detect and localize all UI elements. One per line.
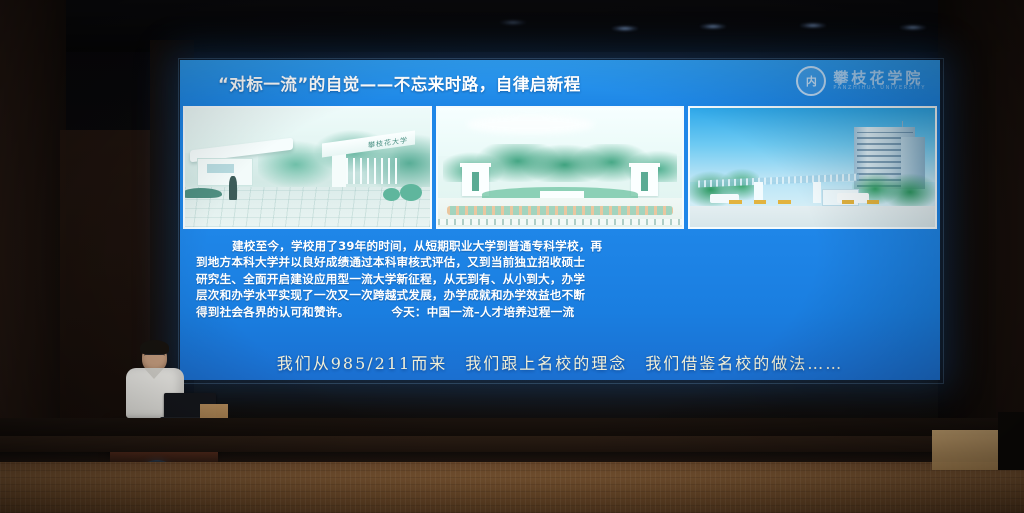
auditorium-scene: “对标一流”的自觉——不忘来时路，自律启新程 内 攀枝花学院 PANZHIHUA… [0,0,1024,513]
stage-step-upper [0,436,1024,452]
stage-speaker-cabinet [998,412,1024,470]
university-seal-icon: 内 [796,66,826,96]
stage-curtain-right [938,40,996,440]
slide-photo-strip: 攀枝花大学 [180,106,940,229]
slide-body: 建校至今，学校用了39年的时间，从短期职业大学到普通专科学校，再 到地方本科大学… [180,229,940,380]
slide-tagline: 我们从985/211而来 我们跟上名校的理念 我们借鉴名校的做法…… [180,350,940,374]
slide-today-text: 今天：中国一流–人才培养过程一流 [349,304,574,320]
brand-name-cn: 攀枝花学院 [833,71,926,87]
ceiling-spotlight [900,25,926,30]
speaker-glasses-icon [144,354,165,360]
slide-body-text: 建校至今，学校用了39年的时间，从短期职业大学到普通专科学校，再 到地方本科大学… [196,238,924,320]
hall-wall-left [0,0,66,452]
body-line: 到地方本科大学并以良好成绩通过本科审核式评估，又到当前独立招收硕士 [196,254,924,270]
slide-title: “对标一流”的自觉——不忘来时路，自律启新程 [218,71,581,95]
university-brand: 内 攀枝花学院 PANZHIHUA UNIVERSITY [796,66,926,96]
hall-floor-grain [0,462,1024,513]
brand-name-en: PANZHIHUA UNIVERSITY [833,86,926,91]
slide-photo-campus-entrance-pillars [436,106,685,229]
projection-screen: “对标一流”的自觉——不忘来时路，自律启新程 内 攀枝花学院 PANZHIHUA… [180,60,940,380]
slide-photo-campus-gate-teal: 攀枝花大学 [183,106,432,229]
stage-crate-right [932,430,998,470]
body-line: 建校至今，学校用了39年的时间，从短期职业大学到普通专科学校，再 [196,238,924,254]
ceiling-spotlight [800,23,826,28]
ceiling-spotlight [500,20,526,25]
speaker-hair [140,340,169,355]
slide-header: “对标一流”的自觉——不忘来时路，自律启新程 内 攀枝花学院 PANZHIHUA… [180,60,940,106]
ceiling-spotlight [700,24,726,29]
seal-glyph: 内 [806,76,817,87]
stage-edge [0,418,1024,436]
slide-photo-campus-gate-tower [688,106,937,229]
body-line: 得到社会各界的认可和赞许。 [196,304,349,320]
body-line: 层次和办学水平实现了一次又一次跨越式发展，办学成就和办学效益也不断 [196,287,924,303]
body-line: 研究生、全面开启建设应用型一流大学新征程，从无到有、从小到大，办学 [196,271,924,287]
ceiling-spotlight [612,26,638,31]
